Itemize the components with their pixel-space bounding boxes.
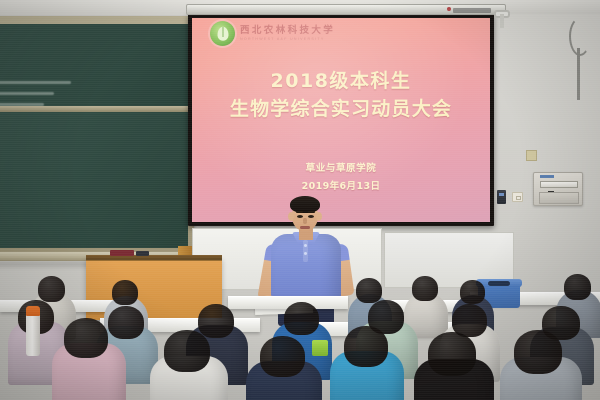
lectern-item bbox=[136, 251, 149, 256]
green-chalkboard bbox=[0, 16, 194, 256]
student-navy-tee-head bbox=[260, 336, 305, 377]
chalkboard-lower-panel bbox=[0, 112, 188, 248]
projection-screen: 西北农林科技大学 NORTHWEST A&F UNIVERSITY 2018级本… bbox=[192, 18, 490, 222]
lectern-top-edge bbox=[86, 255, 222, 260]
slide-institution-logo: 西北农林科技大学 NORTHWEST A&F UNIVERSITY bbox=[210, 21, 335, 46]
roller-brand-label bbox=[453, 8, 491, 13]
speaker-ear-left bbox=[288, 212, 294, 221]
screen-roller-bar bbox=[186, 4, 506, 15]
roller-indicator-icon bbox=[447, 7, 451, 11]
lecture-hall-photo: 西北农林科技大学 NORTHWEST A&F UNIVERSITY 2018级本… bbox=[0, 0, 600, 400]
student-back-f-head bbox=[564, 274, 591, 300]
wall-plate bbox=[526, 150, 537, 161]
student-gray-tee-head bbox=[514, 330, 562, 374]
student-back-b-head bbox=[112, 280, 138, 305]
student-teal-tee-head bbox=[108, 306, 144, 339]
slide-title-line-2: 生物学综合实习动员大会 bbox=[192, 94, 490, 121]
orange-capped-thermos bbox=[26, 310, 40, 356]
student-black-tee-head bbox=[428, 332, 476, 376]
student-back-d-head bbox=[412, 276, 438, 301]
speaker-hair bbox=[290, 196, 320, 213]
lectern-book bbox=[110, 250, 134, 256]
speaker-ear-right bbox=[316, 212, 322, 221]
student-white-tee-head bbox=[164, 330, 210, 372]
student-back-a-head bbox=[38, 276, 65, 302]
speaker-mouth bbox=[300, 226, 310, 229]
trash-bin-opening bbox=[488, 281, 510, 286]
screen-arm bbox=[500, 14, 504, 28]
chalkboard-upper-panel bbox=[0, 24, 188, 106]
light-switch[interactable] bbox=[497, 190, 506, 204]
speaker-eyebrow-left bbox=[296, 211, 303, 213]
student-blue-tee-head bbox=[284, 302, 319, 335]
projection-screen-frame: 西北农林科技大学 NORTHWEST A&F UNIVERSITY 2018级本… bbox=[188, 14, 494, 226]
student-cyan-tee-head bbox=[344, 326, 388, 367]
leaf-emblem-icon bbox=[210, 21, 235, 46]
speaker-button-bottom bbox=[304, 252, 307, 255]
slide-subtitle-date: 2019年6月13日 bbox=[192, 178, 490, 192]
chalk-note-line-1 bbox=[0, 81, 71, 84]
student-back-c-head bbox=[356, 278, 382, 303]
speaker-eyebrow-right bbox=[308, 211, 315, 213]
slide-subtitle-department: 草业与草原学院 bbox=[192, 160, 490, 174]
electrical-panel-box bbox=[533, 172, 583, 206]
slide-title-line-1: 2018级本科生 bbox=[192, 66, 490, 93]
student-dark-tee-head bbox=[198, 304, 234, 338]
student-pink-shirt-head bbox=[64, 318, 108, 358]
hanging-cable bbox=[569, 16, 591, 56]
chalk-note-line-2 bbox=[0, 92, 54, 95]
thermos-cap bbox=[26, 306, 40, 316]
speaker-eye-right bbox=[308, 215, 314, 218]
power-outlet bbox=[512, 192, 523, 202]
institution-name-en: NORTHWEST A&F UNIVERSITY bbox=[240, 37, 335, 41]
speaker-nose bbox=[303, 218, 307, 224]
hanging-cable-tail bbox=[577, 48, 580, 100]
student-back-e-head bbox=[460, 280, 485, 304]
institution-name-cn: 西北农林科技大学 bbox=[240, 26, 335, 36]
green-water-bottle bbox=[312, 340, 328, 356]
speaker-eye-left bbox=[297, 215, 303, 218]
speaker-button-top bbox=[304, 244, 307, 247]
